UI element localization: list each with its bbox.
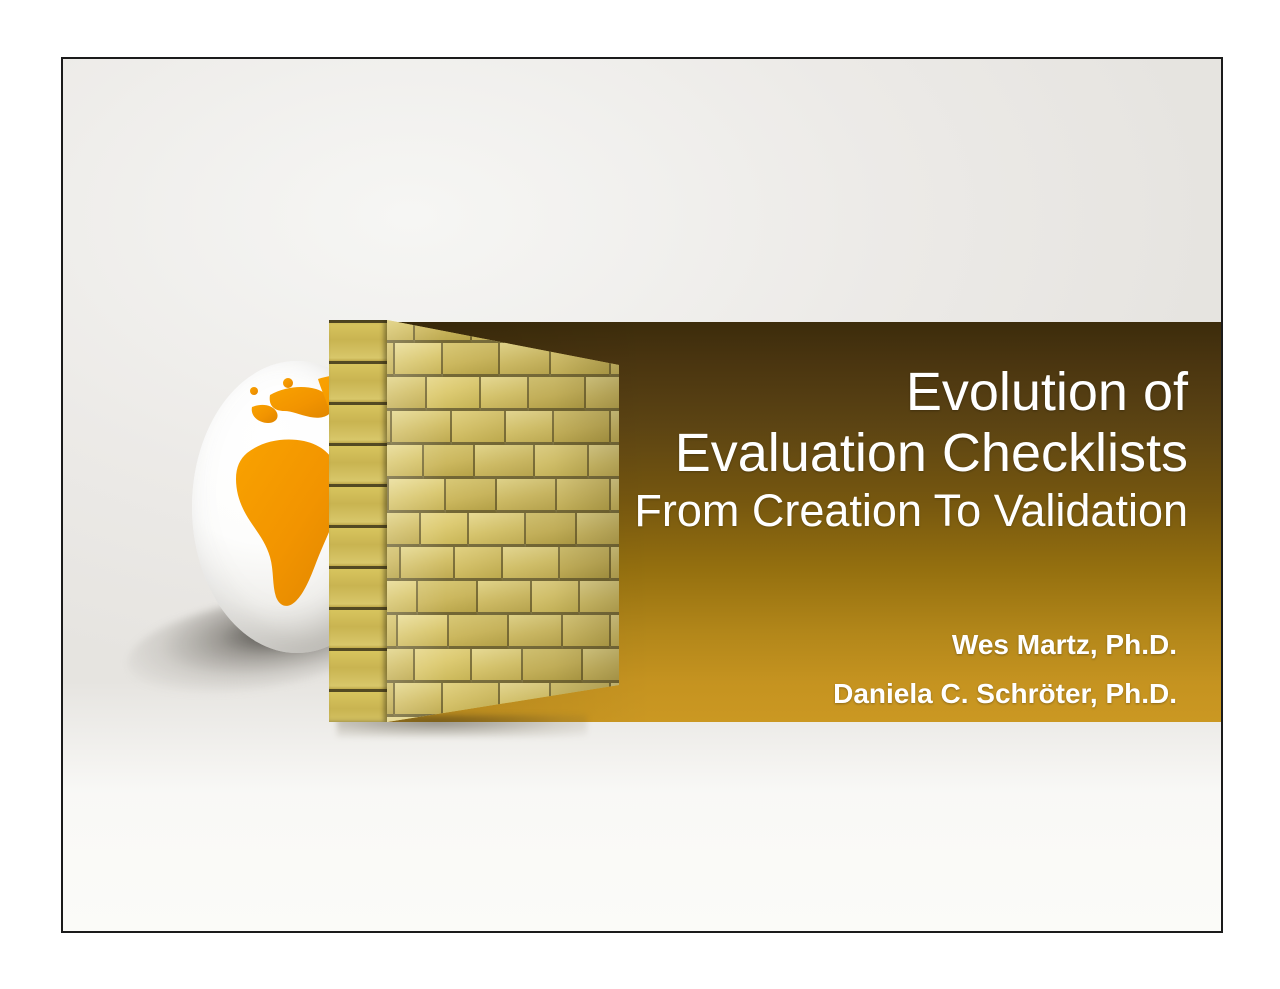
brick [589, 445, 619, 479]
brick [551, 343, 611, 377]
brick [424, 445, 475, 479]
brick [523, 649, 583, 683]
brick [395, 343, 443, 377]
brick [387, 615, 398, 649]
brick-course [387, 411, 619, 445]
brick-course [387, 649, 619, 683]
brick-course [387, 343, 619, 377]
brick [392, 411, 452, 445]
brick-course [387, 479, 619, 513]
brick-wall-illustration [329, 317, 619, 725]
brick [398, 615, 449, 649]
brick-course [387, 683, 619, 717]
brick [387, 683, 395, 717]
brick-course [387, 445, 619, 479]
brick [551, 683, 611, 717]
brick [415, 317, 472, 343]
brick [577, 513, 619, 547]
brick [526, 513, 577, 547]
brick [557, 479, 611, 513]
brick [535, 445, 589, 479]
brick [415, 649, 472, 683]
brick [387, 513, 421, 547]
brick [560, 547, 611, 581]
brick [449, 615, 509, 649]
brick [443, 683, 500, 717]
brick [455, 547, 503, 581]
brick [611, 615, 619, 649]
brick [529, 377, 586, 411]
brick [387, 377, 427, 411]
brick [523, 317, 583, 343]
brick [387, 317, 415, 343]
brick [611, 343, 619, 377]
brick [387, 445, 424, 479]
brick [446, 479, 497, 513]
brick [418, 581, 478, 615]
brick [503, 547, 560, 581]
brick [611, 547, 619, 581]
brick [509, 615, 563, 649]
presentation-slide: Evolution of Evaluation Checklists From … [61, 57, 1223, 933]
brick [472, 317, 523, 343]
brick [387, 343, 395, 377]
brick-course [387, 547, 619, 581]
brick-course [387, 513, 619, 547]
brick [586, 717, 619, 725]
brick [583, 649, 619, 683]
brick [611, 479, 619, 513]
brick [401, 547, 455, 581]
brick [389, 479, 446, 513]
brick-course [387, 377, 619, 411]
brick [387, 649, 415, 683]
slide-background: Evolution of Evaluation Checklists From … [63, 59, 1221, 931]
brick [506, 411, 554, 445]
wall-front-face [387, 317, 619, 725]
brick [611, 683, 619, 717]
brick [452, 411, 506, 445]
brick [387, 547, 401, 581]
brick [443, 343, 500, 377]
brick [500, 683, 551, 717]
brick [583, 317, 619, 343]
wall-side-face [329, 320, 387, 722]
brick-course [387, 581, 619, 615]
brick-course [387, 615, 619, 649]
brick [478, 581, 532, 615]
brick [580, 581, 619, 615]
brick [472, 649, 523, 683]
brick [475, 445, 535, 479]
brick [497, 479, 557, 513]
brick [611, 411, 619, 445]
brick [563, 615, 611, 649]
brick [421, 513, 469, 547]
brick-rows [387, 317, 619, 725]
brick [481, 377, 529, 411]
brick [586, 377, 619, 411]
brick [387, 581, 418, 615]
brick [427, 377, 481, 411]
brick [395, 683, 443, 717]
brick [469, 513, 526, 547]
brick [532, 581, 580, 615]
brick [500, 343, 551, 377]
brick [554, 411, 611, 445]
brick-course [387, 317, 619, 343]
